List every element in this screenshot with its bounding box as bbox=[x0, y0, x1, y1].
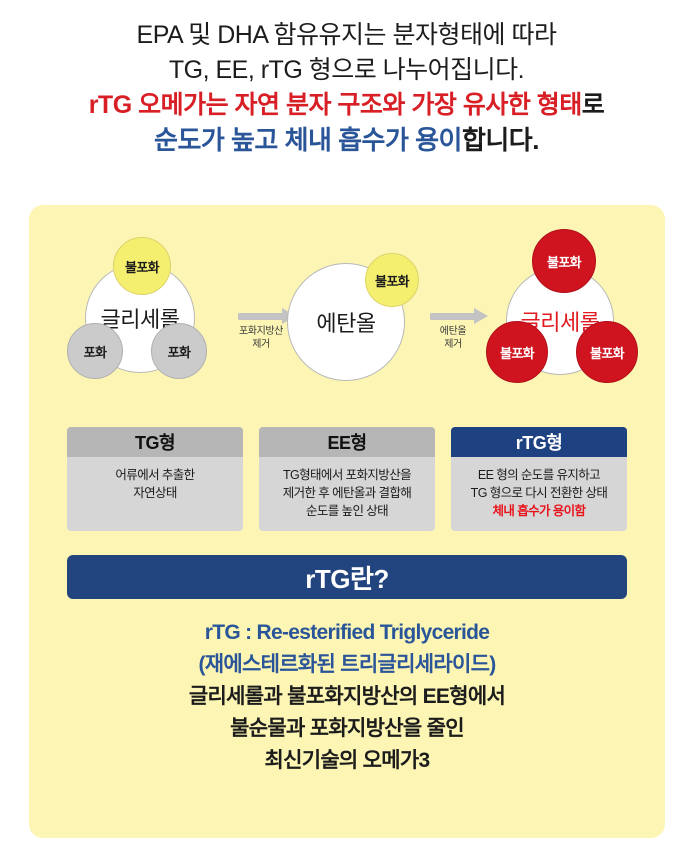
type-box-title: rTG형 bbox=[451, 427, 627, 457]
description-line-1: rTG : Re-esterified Triglyceride bbox=[29, 617, 665, 649]
type-box-ee: EE형 TG형태에서 포화지방산을 제거한 후 에탄올과 결합해 순도를 높인 … bbox=[259, 427, 435, 531]
header-line-2: TG, EE, rTG 형으로 나누어집니다. bbox=[0, 53, 693, 88]
type-box-body-highlight: 체내 흡수가 용이함 bbox=[457, 502, 621, 520]
type-box-tg: TG형 어류에서 추출한 자연상태 bbox=[67, 427, 243, 531]
header-line-4-tail: 합니다. bbox=[462, 125, 539, 155]
header-line-3-highlight: rTG 오메가는 자연 분자 구조와 가장 유사한 형태 bbox=[89, 91, 582, 119]
type-box-body-line: 어류에서 추출한 bbox=[73, 466, 237, 484]
type-comparison-boxes: TG형 어류에서 추출한 자연상태 EE형 TG형태에서 포화지방산을 제거한 … bbox=[67, 427, 627, 531]
molecule-ee: 에탄올 불포화 bbox=[279, 237, 439, 402]
description-line-3: 글리세롤과 불포화지방산의 EE형에서 bbox=[29, 681, 665, 713]
header-line-3-tail: 로 bbox=[582, 91, 605, 119]
type-box-body-line: 순도를 높인 상태 bbox=[265, 502, 429, 520]
header-text-block: EPA 및 DHA 함유유지는 분자형태에 따라 TG, EE, rTG 형으로… bbox=[0, 18, 693, 158]
unsaturated-satellite-icon: 불포화 bbox=[486, 321, 548, 383]
type-box-rtg: rTG형 EE 형의 순도를 유지하고 TG 형으로 다시 전환한 상태 체내 … bbox=[451, 427, 627, 531]
type-box-body-line: TG 형으로 다시 전환한 상태 bbox=[457, 484, 621, 502]
unsaturated-satellite-icon: 불포화 bbox=[365, 253, 419, 307]
type-box-body-line: TG형태에서 포화지방산을 bbox=[265, 466, 429, 484]
arrow-right-icon bbox=[238, 313, 284, 320]
arrow-right-icon bbox=[430, 313, 476, 320]
type-box-body: 어류에서 추출한 자연상태 bbox=[67, 457, 243, 519]
rtg-definition-banner: rTG란? bbox=[67, 555, 627, 599]
type-box-body: TG형태에서 포화지방산을 제거한 후 에탄올과 결합해 순도를 높인 상태 bbox=[259, 457, 435, 531]
molecule-tg: 글리세롤 불포화 포화 포화 bbox=[67, 237, 227, 402]
unsaturated-satellite-icon: 불포화 bbox=[113, 237, 171, 295]
unsaturated-satellite-icon: 불포화 bbox=[576, 321, 638, 383]
type-box-body: EE 형의 순도를 유지하고 TG 형으로 다시 전환한 상태 체내 흡수가 용… bbox=[451, 457, 627, 531]
infographic-panel: 글리세롤 불포화 포화 포화 포화지방산 제거 에탄올 불포화 에탄올 제거 글… bbox=[29, 205, 665, 838]
header-line-4-highlight: 순도가 높고 체내 흡수가 용이 bbox=[154, 125, 462, 155]
type-box-title: TG형 bbox=[67, 427, 243, 457]
unsaturated-satellite-icon: 불포화 bbox=[532, 229, 596, 293]
arrow-label-line-1: 에탄올 bbox=[417, 325, 489, 338]
description-line-4: 불순물과 포화지방산을 줄인 bbox=[29, 713, 665, 745]
header-line-3: rTG 오메가는 자연 분자 구조와 가장 유사한 형태로 bbox=[0, 88, 693, 123]
process-arrow-remove-ethanol: 에탄올 제거 bbox=[417, 313, 489, 351]
type-box-body-line: EE 형의 순도를 유지하고 bbox=[457, 466, 621, 484]
saturated-satellite-icon: 포화 bbox=[67, 323, 123, 379]
molecule-rtg: 글리세롤 불포화 불포화 불포화 bbox=[484, 229, 644, 394]
arrow-label-line-2: 제거 bbox=[417, 338, 489, 351]
description-line-2: (재에스테르화된 트리글리세라이드) bbox=[29, 649, 665, 681]
molecule-diagram: 글리세롤 불포화 포화 포화 포화지방산 제거 에탄올 불포화 에탄올 제거 글… bbox=[29, 225, 665, 425]
header-line-1: EPA 및 DHA 함유유지는 분자형태에 따라 bbox=[0, 18, 693, 53]
saturated-satellite-icon: 포화 bbox=[151, 323, 207, 379]
rtg-description-block: rTG : Re-esterified Triglyceride (재에스테르화… bbox=[29, 617, 665, 777]
banner-title: rTG란? bbox=[305, 559, 389, 596]
header-line-4: 순도가 높고 체내 흡수가 용이합니다. bbox=[0, 123, 693, 158]
type-box-body-line: 자연상태 bbox=[73, 484, 237, 502]
type-box-title: EE형 bbox=[259, 427, 435, 457]
description-line-5: 최신기술의 오메가3 bbox=[29, 745, 665, 777]
type-box-body-line: 제거한 후 에탄올과 결합해 bbox=[265, 484, 429, 502]
